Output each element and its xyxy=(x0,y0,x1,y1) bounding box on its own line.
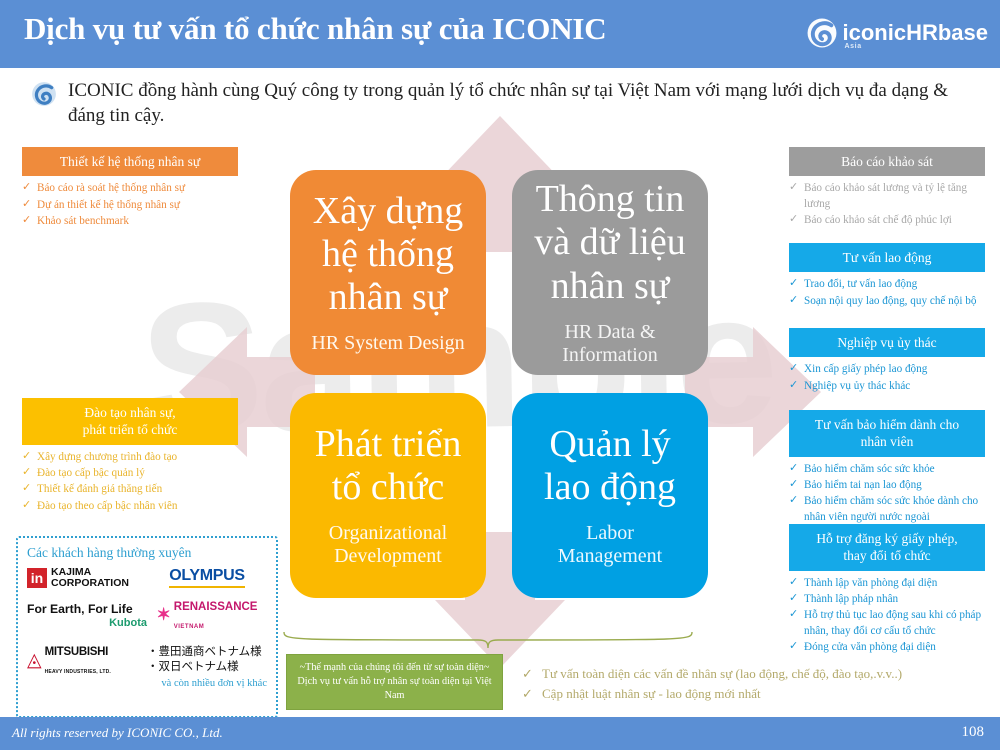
iconic-swirl-icon xyxy=(805,16,839,50)
quadrant-title-vn: Thông tin và dữ liệu nhân sự xyxy=(534,178,685,308)
quadrant-title-en: HR System Design xyxy=(311,332,464,355)
list-item-label: Khảo sát benchmark xyxy=(37,215,129,227)
list-item-label: Đào tạo cấp bậc quản lý xyxy=(37,467,145,479)
check-icon: ✓ xyxy=(789,461,798,476)
jp-client-2: ・双日ベトナム様 xyxy=(147,660,267,676)
check-icon: ✓ xyxy=(789,180,798,195)
list-item: ✓Tư vấn toàn diện các vấn đề nhân sự (la… xyxy=(522,664,992,684)
list-item-label: Xin cấp giấy phép lao động xyxy=(804,363,927,375)
quadrant-organizational-development[interactable]: Phát triển tổ chức Organizational Develo… xyxy=(290,393,486,598)
check-icon: ✓ xyxy=(789,639,798,654)
check-icon: ✓ xyxy=(789,607,798,622)
list-item-label: Thành lập văn phòng đại diện xyxy=(804,577,937,589)
brand-name-text: iconicHRbase xyxy=(843,20,989,45)
check-icon: ✓ xyxy=(22,449,31,464)
clients-row: For Earth, For Life Kubota ✶ RENAISSANCE… xyxy=(27,597,267,633)
list-item: ✓Bảo hiểm chăm sóc sức khỏe xyxy=(789,462,985,477)
panel-survey-report: Báo cáo khảo sát ✓Báo cáo khảo sát lương… xyxy=(789,147,985,230)
check-icon: ✓ xyxy=(22,213,31,228)
kajima-mark-icon: in xyxy=(27,568,47,588)
mitsubishi-line2: HEAVY INDUSTRIES, LTD. xyxy=(45,669,111,675)
kubota-tagline: For Earth, For Life xyxy=(27,602,147,616)
check-icon: ✓ xyxy=(789,575,798,590)
list-item: ✓Bảo hiểm tai nạn lao động xyxy=(789,478,985,493)
list-item: ✓Soạn nội quy lao động, quy chế nội bộ xyxy=(789,294,985,309)
copyright-text: All rights reserved by ICONIC CO., Ltd. xyxy=(12,725,223,741)
brand-name: iconicHRbase Asia xyxy=(843,22,989,44)
panel-labor-consulting: Tư vấn lao động ✓Trao đổi, tư vấn lao độ… xyxy=(789,243,985,310)
check-icon: ✓ xyxy=(522,664,533,684)
list-item: ✓Nghiệp vụ ủy thác khác xyxy=(789,379,985,394)
panel-header: Hỗ trợ đăng ký giấy phép, thay đổi tổ ch… xyxy=(789,524,985,571)
check-icon: ✓ xyxy=(789,378,798,393)
mitsubishi-line1: MITSUBISHI xyxy=(45,646,108,658)
panel-item-list: ✓Xây dựng chương trình đào tạo ✓Đào tạo … xyxy=(22,450,238,515)
list-item-label: Đóng cửa văn phòng đại diện xyxy=(804,641,936,653)
check-icon: ✓ xyxy=(22,180,31,195)
list-item-label: Báo cáo rà soát hệ thống nhân sự xyxy=(37,182,185,194)
quadrant-hr-system-design[interactable]: Xây dựng hệ thống nhân sự HR System Desi… xyxy=(290,170,486,375)
client-logo-mitsubishi: ◬ MITSUBISHI HEAVY INDUSTRIES, LTD. xyxy=(27,642,147,678)
kajima-line2: CORPORATION xyxy=(51,578,129,589)
list-item: ✓Báo cáo rà soát hệ thống nhân sự xyxy=(22,181,238,196)
check-icon: ✓ xyxy=(22,481,31,496)
strength-highlight-box: ~Thế mạnh của chúng tôi đến từ sự toàn d… xyxy=(286,654,503,710)
check-icon: ✓ xyxy=(789,361,798,376)
slide-root: Dịch vụ tư vấn tổ chức nhân sự của ICONI… xyxy=(0,0,1000,750)
page-title: Dịch vụ tư vấn tổ chức nhân sự của ICONI… xyxy=(24,11,606,47)
list-item-label: Báo cáo khảo sát lương và tỷ lệ tăng lươ… xyxy=(804,182,967,209)
list-item: ✓Thiết kế đánh giá thăng tiến xyxy=(22,482,238,497)
brand-region: Asia xyxy=(845,43,862,50)
renaissance-star-icon: ✶ xyxy=(157,605,171,625)
clients-row: ◬ MITSUBISHI HEAVY INDUSTRIES, LTD. ・豊田通… xyxy=(27,642,267,678)
check-icon: ✓ xyxy=(22,498,31,513)
panel-hr-system-design: Thiết kế hệ thống nhân sự ✓Báo cáo rà so… xyxy=(22,147,238,231)
clients-footnote: và còn nhiều đơn vị khác xyxy=(27,678,267,689)
list-item: ✓Dự án thiết kế hệ thống nhân sự xyxy=(22,198,238,213)
iconic-swirl-icon xyxy=(30,80,58,108)
jp-client-1: ・豊田通商ベトナム様 xyxy=(147,645,267,661)
list-item: ✓Đào tạo theo cấp bậc nhân viên xyxy=(22,499,238,514)
panel-item-list: ✓Bảo hiểm chăm sóc sức khỏe ✓Bảo hiểm ta… xyxy=(789,462,985,526)
panel-item-list: ✓Thành lập văn phòng đại diện ✓Thành lập… xyxy=(789,576,985,656)
panel-item-list: ✓Trao đổi, tư vấn lao động ✓Soạn nội quy… xyxy=(789,277,985,309)
olympus-label: OLYMPUS xyxy=(169,567,245,588)
mitsubishi-label: MITSUBISHI HEAVY INDUSTRIES, LTD. xyxy=(45,642,111,678)
renaissance-label: RENAISSANCE VIETNAM xyxy=(174,597,258,633)
regular-clients-box: Các khách hàng thường xuyên in KAJIMA CO… xyxy=(16,536,278,718)
list-item-label: Báo cáo khảo sát chế độ phúc lợi xyxy=(804,214,952,226)
kubota-label: Kubota xyxy=(27,617,147,629)
check-icon: ✓ xyxy=(789,212,798,227)
list-item: ✓Thành lập văn phòng đại diện xyxy=(789,576,985,591)
panel-item-list: ✓Báo cáo rà soát hệ thống nhân sự ✓Dự án… xyxy=(22,181,238,229)
panel-item-list: ✓Báo cáo khảo sát lương và tỷ lệ tăng lư… xyxy=(789,181,985,228)
list-item-label: Bảo hiểm tai nạn lao động xyxy=(804,479,922,491)
quadrant-labor-management[interactable]: Quản lý lao động Labor Management xyxy=(512,393,708,598)
renaissance-line2: VIETNAM xyxy=(174,624,205,630)
client-logo-kajima: in KAJIMA CORPORATION xyxy=(27,567,147,588)
panel-header: Báo cáo khảo sát xyxy=(789,147,985,176)
strength-highlight-text: ~Thế mạnh của chúng tôi đến từ sự toàn d… xyxy=(292,661,497,704)
quadrant-title-en: Labor Management xyxy=(558,522,662,568)
list-item-label: Thành lập pháp nhân xyxy=(804,593,898,605)
list-item: ✓Khảo sát benchmark xyxy=(22,214,238,229)
list-item: ✓Đào tạo cấp bậc quản lý xyxy=(22,466,238,481)
clients-row: in KAJIMA CORPORATION OLYMPUS xyxy=(27,567,267,588)
list-item-label: Đào tạo theo cấp bậc nhân viên xyxy=(37,500,177,512)
list-item: ✓Đóng cửa văn phòng đại diện xyxy=(789,640,985,655)
list-item-label: Soạn nội quy lao động, quy chế nội bộ xyxy=(804,295,976,307)
brand-logo: iconicHRbase Asia xyxy=(805,16,989,50)
list-item: ✓Cập nhật luật nhân sự - lao động mới nh… xyxy=(522,684,992,704)
client-japanese-list: ・豊田通商ベトナム様 ・双日ベトナム様 xyxy=(147,645,267,676)
list-item: ✓Báo cáo khảo sát chế độ phúc lợi xyxy=(789,213,985,228)
check-icon: ✓ xyxy=(789,493,798,508)
quadrant-title-vn: Xây dựng hệ thống nhân sự xyxy=(313,190,463,320)
list-item-label: Hỗ trợ thủ tục lao động sau khi có pháp … xyxy=(804,609,981,636)
list-item: ✓Xây dựng chương trình đào tạo xyxy=(22,450,238,465)
panel-license-registration-support: Hỗ trợ đăng ký giấy phép, thay đổi tổ ch… xyxy=(789,524,985,657)
client-logo-olympus: OLYMPUS xyxy=(147,567,267,588)
quadrant-title-vn: Quản lý lao động xyxy=(544,423,676,510)
quadrant-hr-data-information[interactable]: Thông tin và dữ liệu nhân sự HR Data & I… xyxy=(512,170,708,375)
header-bar: Dịch vụ tư vấn tổ chức nhân sự của ICONI… xyxy=(0,0,1000,68)
check-icon: ✓ xyxy=(789,293,798,308)
list-item-label: Cập nhật luật nhân sự - lao động mới nhấ… xyxy=(542,686,761,701)
check-icon: ✓ xyxy=(789,477,798,492)
clients-title: Các khách hàng thường xuyên xyxy=(27,545,267,561)
check-icon: ✓ xyxy=(22,197,31,212)
panel-training-org-development: Đào tạo nhân sự, phát triển tổ chức ✓Xây… xyxy=(22,398,238,515)
panel-header: Nghiệp vụ ủy thác xyxy=(789,328,985,357)
client-logo-kubota: For Earth, For Life Kubota xyxy=(27,602,147,629)
list-item: ✓Bảo hiểm chăm sóc sức khỏe dành cho nhâ… xyxy=(789,494,985,525)
check-icon: ✓ xyxy=(789,591,798,606)
kajima-label: KAJIMA CORPORATION xyxy=(51,567,129,588)
curly-brace-icon xyxy=(282,628,694,650)
check-icon: ✓ xyxy=(22,465,31,480)
panel-header: Tư vấn bảo hiểm dành cho nhân viên xyxy=(789,410,985,457)
list-item: ✓Báo cáo khảo sát lương và tỷ lệ tăng lư… xyxy=(789,181,985,212)
subtitle-block: ICONIC đồng hành cùng Quý công ty trong … xyxy=(30,78,950,128)
page-number: 108 xyxy=(962,724,985,741)
footer-bar: All rights reserved by ICONIC CO., Ltd. … xyxy=(0,717,1000,750)
subtitle-text: ICONIC đồng hành cùng Quý công ty trong … xyxy=(68,78,950,128)
list-item-label: Nghiệp vụ ủy thác khác xyxy=(804,380,910,392)
list-item: ✓Hỗ trợ thủ tục lao động sau khi có pháp… xyxy=(789,608,985,639)
list-item-label: Dự án thiết kế hệ thống nhân sự xyxy=(37,199,180,211)
bottom-summary-list: ✓Tư vấn toàn diện các vấn đề nhân sự (la… xyxy=(522,664,992,703)
list-item-label: Bảo hiểm chăm sóc sức khỏe xyxy=(804,463,935,475)
list-item-label: Thiết kế đánh giá thăng tiến xyxy=(37,483,162,495)
quadrant-title-en: Organizational Development xyxy=(329,522,447,568)
list-item: ✓Trao đổi, tư vấn lao động xyxy=(789,277,985,292)
renaissance-line1: RENAISSANCE xyxy=(174,601,258,613)
client-logo-renaissance: ✶ RENAISSANCE VIETNAM xyxy=(147,597,267,633)
mitsubishi-diamond-icon: ◬ xyxy=(27,651,42,670)
panel-header: Tư vấn lao động xyxy=(789,243,985,272)
list-item-label: Bảo hiểm chăm sóc sức khỏe dành cho nhân… xyxy=(804,495,978,522)
list-item: ✓Xin cấp giấy phép lao động xyxy=(789,362,985,377)
panel-outsourcing-services: Nghiệp vụ ủy thác ✓Xin cấp giấy phép lao… xyxy=(789,328,985,395)
check-icon: ✓ xyxy=(522,684,533,704)
quadrant-title-en: HR Data & Information xyxy=(562,321,658,367)
check-icon: ✓ xyxy=(789,276,798,291)
list-item-label: Tư vấn toàn diện các vấn đề nhân sự (lao… xyxy=(542,666,902,681)
list-item-label: Xây dựng chương trình đào tạo xyxy=(37,451,177,463)
panel-employee-insurance: Tư vấn bảo hiểm dành cho nhân viên ✓Bảo … xyxy=(789,410,985,526)
list-item-label: Trao đổi, tư vấn lao động xyxy=(804,278,917,290)
panel-item-list: ✓Xin cấp giấy phép lao động ✓Nghiệp vụ ủ… xyxy=(789,362,985,394)
panel-header: Đào tạo nhân sự, phát triển tổ chức xyxy=(22,398,238,445)
panel-header: Thiết kế hệ thống nhân sự xyxy=(22,147,238,176)
list-item: ✓Thành lập pháp nhân xyxy=(789,592,985,607)
quadrant-title-vn: Phát triển tổ chức xyxy=(315,423,462,510)
